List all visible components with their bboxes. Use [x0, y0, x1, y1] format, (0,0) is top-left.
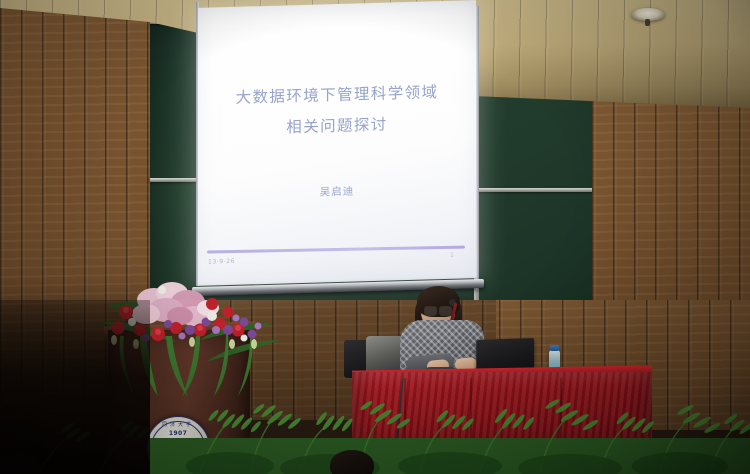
chalk-rail-lower-right [478, 188, 596, 192]
slide-content: 大数据环境下管理科学领域 相关问题探讨 吴启迪 13-9-26 1 [198, 0, 476, 286]
handbag [366, 336, 404, 374]
slide-footer-date: 13-9-26 [208, 258, 235, 266]
slide-title: 大数据环境下管理科学领域 相关问题探讨 [236, 77, 439, 145]
slide-title-line-2: 相关问题探讨 [236, 108, 439, 145]
chalk-rail-lower-left [150, 178, 200, 182]
slide-author: 吴启迪 [320, 184, 355, 200]
slide-divider-rule [207, 246, 465, 254]
shadow-overlay-left [0, 300, 150, 474]
projection-screen: 大数据环境下管理科学领域 相关问题探讨 吴启迪 13-9-26 1 [196, 2, 480, 290]
slide-title-line-1: 大数据环境下管理科学领域 [236, 77, 439, 114]
screen-edge-right [476, 6, 479, 290]
audience-head-1 [330, 450, 374, 474]
slide-footer-page-number: 1 [450, 252, 454, 259]
eyeglasses-icon [424, 306, 452, 314]
lecture-hall-photo: 大数据环境下管理科学领域 相关问题探讨 吴启迪 13-9-26 1 同济大学 1… [0, 0, 750, 474]
screen-surface: 大数据环境下管理科学领域 相关问题探讨 吴启迪 13-9-26 1 [198, 0, 476, 286]
recessed-ceiling-light-icon [631, 8, 665, 21]
water-bottle-cap [550, 345, 559, 351]
